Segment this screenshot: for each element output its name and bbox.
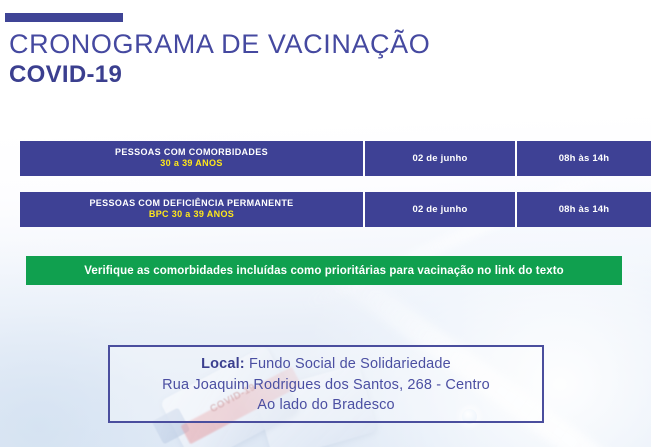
page-title: CRONOGRAMA DE VACINAÇÃO — [9, 29, 430, 60]
schedule-time-value: 08h às 14h — [559, 153, 610, 164]
location-venue-line: Local: Fundo Social de Solidariedade — [201, 354, 451, 375]
schedule-date-value: 02 de junho — [413, 204, 468, 215]
location-label: Local: — [201, 356, 245, 372]
schedule-group-cell: PESSOAS COM DEFICIÊNCIA PERMANENTE BPC 3… — [20, 192, 365, 227]
comorbidity-notice-banner: Verifique as comorbidades incluídas como… — [26, 256, 622, 285]
schedule-table: PESSOAS COM COMORBIDADES 30 a 39 ANOS 02… — [20, 141, 651, 243]
header-accent-bar — [5, 13, 123, 22]
schedule-time-value: 08h às 14h — [559, 204, 610, 215]
location-venue: Fundo Social de Solidariedade — [245, 356, 451, 372]
schedule-group-cell: PESSOAS COM COMORBIDADES 30 a 39 ANOS — [20, 141, 365, 176]
table-row: PESSOAS COM DEFICIÊNCIA PERMANENTE BPC 3… — [20, 192, 651, 227]
schedule-date-cell: 02 de junho — [365, 192, 517, 227]
schedule-group-age: BPC 30 a 39 ANOS — [149, 209, 234, 220]
vaccination-schedule-poster: COVID-19 CRONOGRAMA DE VACINAÇÃO COVID-1… — [0, 0, 651, 447]
table-row: PESSOAS COM COMORBIDADES 30 a 39 ANOS 02… — [20, 141, 651, 176]
schedule-time-cell: 08h às 14h — [517, 141, 651, 176]
schedule-date-cell: 02 de junho — [365, 141, 517, 176]
comorbidity-notice-text: Verifique as comorbidades incluídas como… — [84, 265, 564, 277]
schedule-group-title: PESSOAS COM DEFICIÊNCIA PERMANENTE — [89, 198, 293, 209]
location-box: Local: Fundo Social de Solidariedade Rua… — [108, 345, 544, 423]
schedule-date-value: 02 de junho — [413, 153, 468, 164]
location-reference: Ao lado do Bradesco — [257, 395, 394, 416]
page-subtitle: COVID-19 — [9, 61, 122, 89]
schedule-group-title: PESSOAS COM COMORBIDADES — [115, 147, 268, 158]
schedule-group-age: 30 a 39 ANOS — [160, 158, 222, 169]
location-address: Rua Joaquim Rodrigues dos Santos, 268 - … — [162, 375, 490, 396]
schedule-time-cell: 08h às 14h — [517, 192, 651, 227]
